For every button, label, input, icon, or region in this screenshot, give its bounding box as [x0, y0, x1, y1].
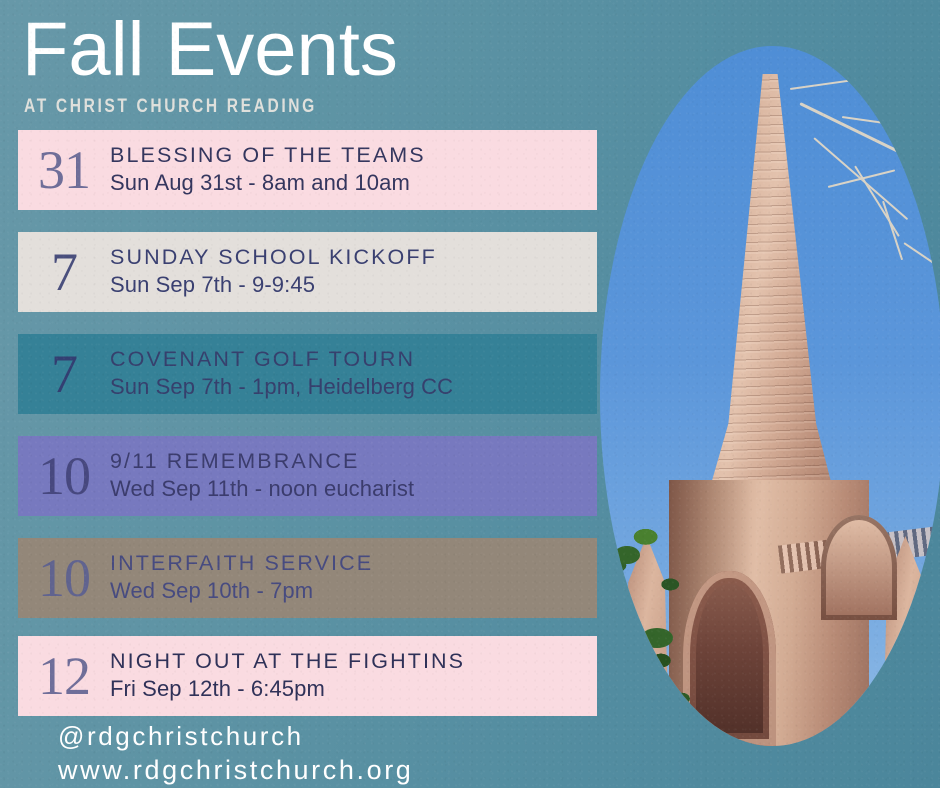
event-day-number: 12	[18, 649, 110, 703]
footer: @rdgchristchurch www.rdgchristchurch.org	[58, 720, 413, 787]
event-details: Sun Sep 7th - 1pm, Heidelberg CC	[110, 373, 597, 402]
event-text-block: INTERFAITH SERVICE Wed Sep 10th - 7pm	[110, 550, 597, 606]
page-subtitle: AT CHRIST CHURCH READING	[24, 96, 317, 118]
tree-branch-icon	[903, 242, 940, 271]
tree-branch-icon	[827, 169, 894, 188]
church-steeple-photo	[600, 46, 940, 746]
foliage-sprig	[607, 685, 635, 704]
event-title: BLESSING OF THE TEAMS	[110, 142, 597, 170]
fall-events-poster: Fall Events AT CHRIST CHURCH READING 31 …	[0, 0, 940, 788]
event-row-5[interactable]: 10 INTERFAITH SERVICE Wed Sep 10th - 7pm	[18, 538, 597, 618]
event-title: 9/11 REMEMBRANCE	[110, 448, 597, 476]
event-text-block: COVENANT GOLF TOURN Sun Sep 7th - 1pm, H…	[110, 346, 597, 402]
website-url[interactable]: www.rdgchristchurch.org	[58, 753, 413, 787]
event-title: NIGHT OUT AT THE FIGHTINS	[110, 648, 597, 676]
event-title: INTERFAITH SERVICE	[110, 550, 597, 578]
event-day-number: 7	[18, 347, 110, 401]
foliage-sprig	[614, 546, 640, 564]
event-row-4[interactable]: 10 9/11 REMEMBRANCE Wed Sep 11th - noon …	[18, 436, 597, 516]
event-details: Sun Sep 7th - 9-9:45	[110, 271, 597, 300]
tree-branch-icon	[790, 77, 865, 90]
tree-branch-icon	[882, 201, 903, 261]
event-text-block: SUNDAY SCHOOL KICKOFF Sun Sep 7th - 9-9:…	[110, 244, 597, 300]
event-details: Wed Sep 10th - 7pm	[110, 577, 597, 606]
event-day-number: 10	[18, 449, 110, 503]
event-text-block: BLESSING OF THE TEAMS Sun Aug 31st - 8am…	[110, 142, 597, 198]
social-handle[interactable]: @rdgchristchurch	[58, 720, 413, 753]
event-title: COVENANT GOLF TOURN	[110, 346, 597, 374]
event-row-3[interactable]: 7 COVENANT GOLF TOURN Sun Sep 7th - 1pm,…	[18, 334, 597, 414]
page-title: Fall Events	[22, 12, 398, 88]
event-details: Sun Aug 31st - 8am and 10am	[110, 169, 597, 198]
event-details: Fri Sep 12th - 6:45pm	[110, 675, 597, 704]
event-row-1[interactable]: 31 BLESSING OF THE TEAMS Sun Aug 31st - …	[18, 130, 597, 210]
tower-arch-ring	[821, 515, 897, 620]
event-day-number: 31	[18, 143, 110, 197]
event-day-number: 7	[18, 245, 110, 299]
event-day-number: 10	[18, 551, 110, 605]
tree-branch-icon	[854, 165, 900, 236]
photo-sky	[600, 46, 940, 746]
event-text-block: 9/11 REMEMBRANCE Wed Sep 11th - noon euc…	[110, 448, 597, 504]
event-title: SUNDAY SCHOOL KICKOFF	[110, 244, 597, 272]
event-row-2[interactable]: 7 SUNDAY SCHOOL KICKOFF Sun Sep 7th - 9-…	[18, 232, 597, 312]
event-details: Wed Sep 11th - noon eucharist	[110, 475, 597, 504]
event-row-6[interactable]: 12 NIGHT OUT AT THE FIGHTINS Fri Sep 12t…	[18, 636, 597, 716]
tree-branch-icon	[799, 102, 940, 174]
event-text-block: NIGHT OUT AT THE FIGHTINS Fri Sep 12th -…	[110, 648, 597, 704]
